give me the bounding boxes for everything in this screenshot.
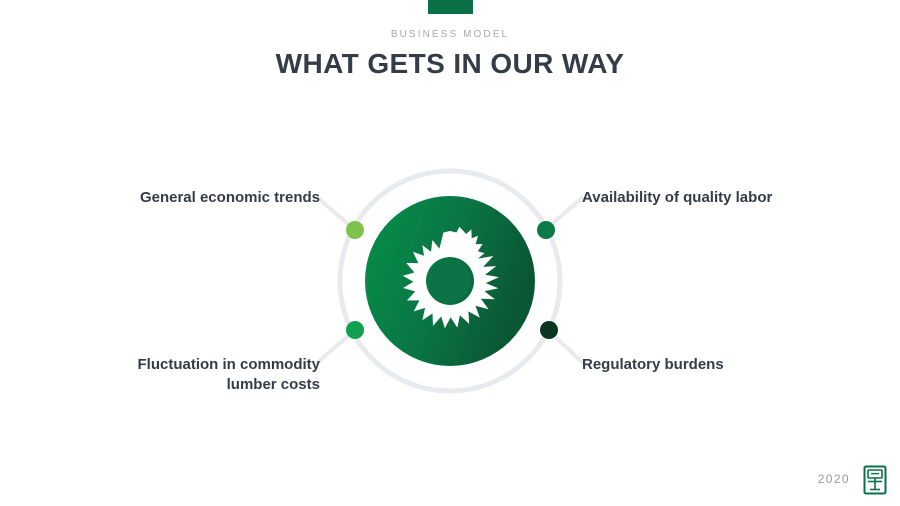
node-label-availability-of-quality-labor: Availability of quality labor [582, 188, 882, 208]
node-label-line: Regulatory burdens [582, 355, 882, 375]
node-label-line: General economic trends [20, 188, 320, 208]
diagram-graphic [0, 0, 900, 506]
node-label-line: Availability of quality labor [582, 188, 882, 208]
node-label-line: Fluctuation in commodity [20, 355, 320, 375]
node-label-fluctuation-in-commodity-lumber-costs: Fluctuation in commodity lumber costs [20, 355, 320, 395]
node-dot-availability-of-quality-labor[interactable] [537, 221, 555, 239]
node-label-general-economic-trends: General economic trends [20, 188, 320, 208]
footer-year: 2020 [806, 472, 850, 486]
node-dot-fluctuation-in-commodity-lumber-costs[interactable] [346, 321, 364, 339]
company-logo [862, 465, 888, 495]
node-dot-general-economic-trends[interactable] [346, 221, 364, 239]
node-dot-regulatory-burdens[interactable] [540, 321, 558, 339]
node-label-regulatory-burdens: Regulatory burdens [582, 355, 882, 375]
node-label-line: lumber costs [20, 375, 320, 395]
slide-canvas: BUSINESS MODEL WHAT GETS IN OUR WAY [0, 0, 900, 506]
